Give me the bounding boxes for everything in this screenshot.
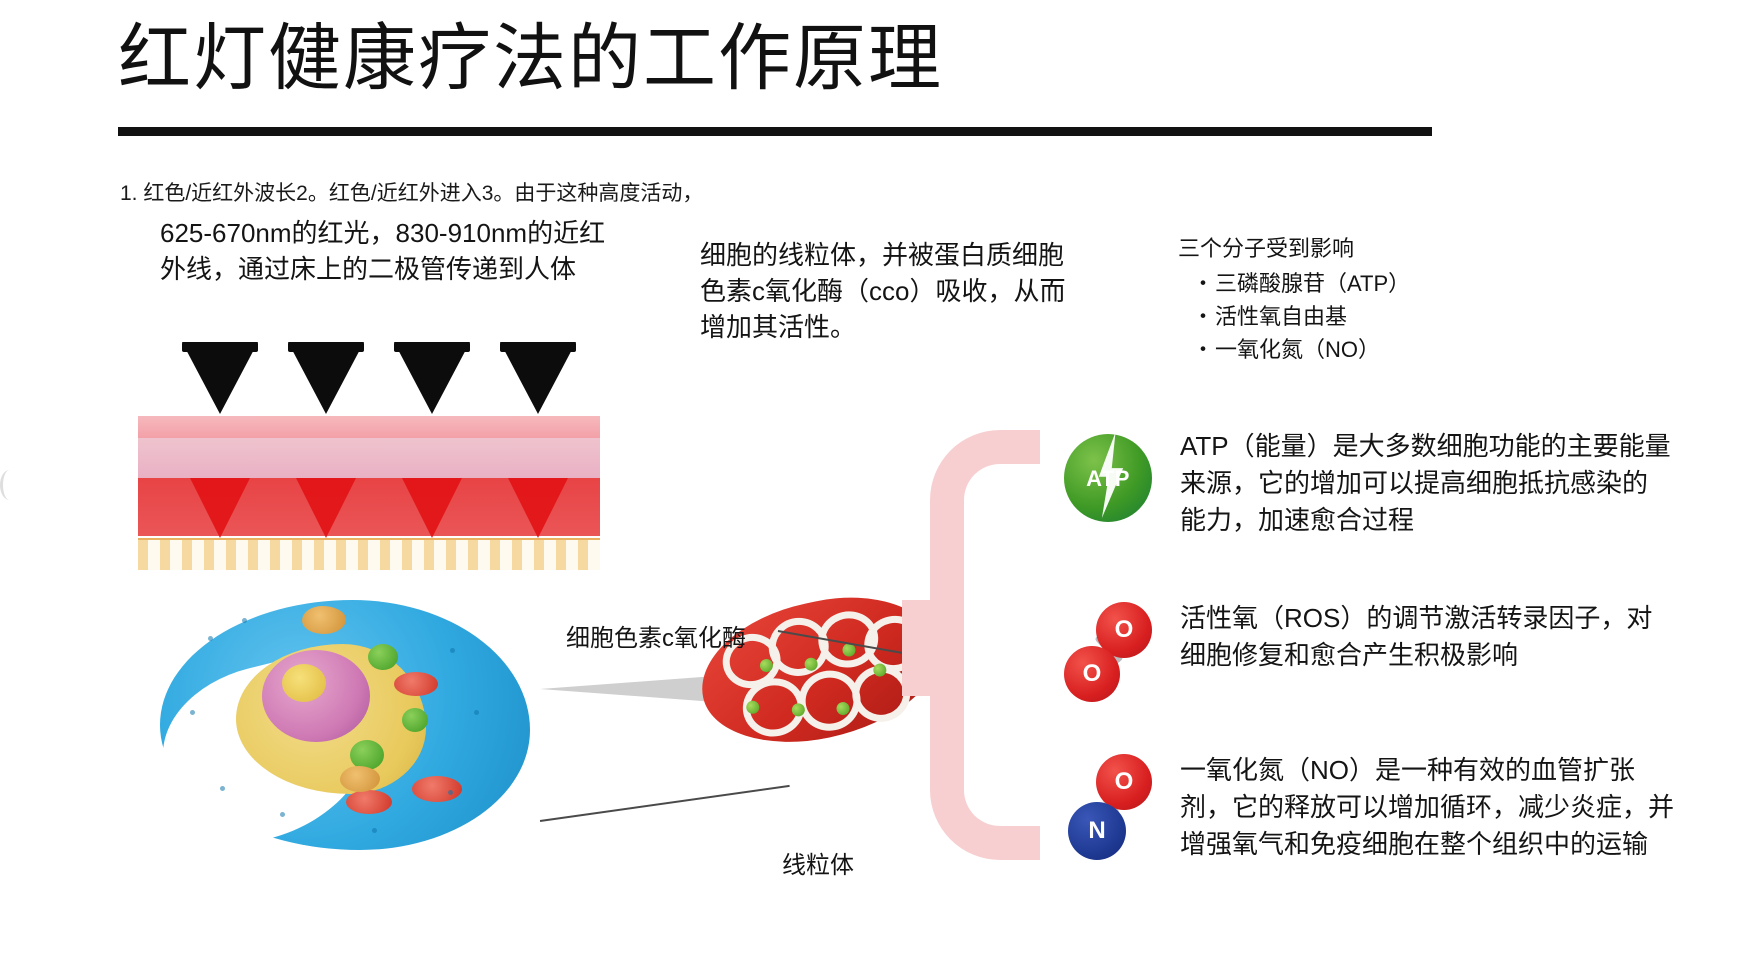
molecule-row-ros: O O 活性氧（ROS）的调节激活转录因子，对细胞修复和愈合产生积极影响 <box>1058 600 1678 720</box>
molecule-row-atp: ATP ATP（能量）是大多数细胞功能的主要能量来源，它的增加可以提高细胞抵抗感… <box>1058 428 1678 539</box>
atp-badge-label: ATP <box>1058 466 1158 492</box>
organelle-vesicle-1 <box>368 644 398 670</box>
page-title: 红灯健康疗法的工作原理 <box>118 18 1618 100</box>
organelle-golgi-2 <box>340 766 380 792</box>
molecule-row-no: O N 一氧化氮（NO）是一种有效的血管扩张剂，它的释放可以增加循环，减少炎症，… <box>1058 752 1678 882</box>
led-lamp-icon-4 <box>500 342 576 414</box>
label-cytochrome-c-oxidase: 细胞色素c氧化酶 <box>566 618 746 653</box>
cell-texture-dot <box>372 828 377 833</box>
molecule-description-no: 一氧化氮（NO）是一种有效的血管扩张剂，它的释放可以增加循环，减少炎症，并增强氧… <box>1180 752 1678 863</box>
molecule-list-item-ros: 活性氧自由基 <box>1192 300 1568 333</box>
cell-texture-dot <box>474 710 479 715</box>
leader-line-mitochondria <box>540 785 790 822</box>
no-molecule-icon: O N <box>1058 752 1158 882</box>
molecule-list-item-no: 一氧化氮（NO） <box>1192 333 1568 366</box>
organelle-mitochondrion-1 <box>394 672 438 696</box>
atp-molecule-icon: ATP <box>1058 428 1158 528</box>
callout-right-molecules: 三个分子受到影响 三磷酸腺苷（ATP） 活性氧自由基 一氧化氮（NO） <box>1178 232 1568 366</box>
organelle-mitochondrion-2 <box>412 776 462 802</box>
callout-middle-mitochondria: 细胞的线粒体，并被蛋白质细胞色素c氧化酶（cco）吸收，从而增加其活性。 <box>700 238 1080 346</box>
left-edge-decoration <box>0 470 19 500</box>
label-mitochondria: 线粒体 <box>782 845 854 880</box>
oxygen-atom-2: O <box>1064 646 1120 702</box>
organelle-golgi-1 <box>302 606 346 634</box>
organelle-mitochondrion-3 <box>346 790 392 814</box>
pink-brace-tail <box>902 600 936 696</box>
cell-texture-dot <box>450 648 455 653</box>
skin-light-penetration-diagram <box>138 342 600 592</box>
subtitle-step-line: 1. 红色/近红外波长2。红色/近红外进入3。由于这种高度活动， <box>120 180 703 207</box>
nitrogen-atom: N <box>1068 802 1126 860</box>
pink-brace-bracket <box>930 430 1040 860</box>
molecule-description-ros: 活性氧（ROS）的调节激活转录因子，对细胞修复和愈合产生积极影响 <box>1180 600 1672 674</box>
cell-illustration <box>150 590 550 880</box>
cell-texture-dot <box>208 636 213 641</box>
title-divider <box>118 127 1432 136</box>
molecule-list-item-atp: 三磷酸腺苷（ATP） <box>1192 267 1568 300</box>
zoom-pointer-wedge <box>540 676 715 702</box>
cell-nucleolus <box>282 664 326 702</box>
led-lamp-icon-1 <box>182 342 258 414</box>
skin-layer-epidermis <box>138 416 600 438</box>
molecule-description-atp: ATP（能量）是大多数细胞功能的主要能量来源，它的增加可以提高细胞抵抗感染的能力… <box>1180 428 1672 539</box>
molecules-list-heading: 三个分子受到影响 <box>1178 232 1568 265</box>
title-block: 红灯健康疗法的工作原理 <box>118 18 1618 100</box>
oxygen-atom: O <box>1096 754 1152 810</box>
callout-left-wavelengths: 625-670nm的红光，830-910nm的近红外线，通过床上的二极管传递到人… <box>160 216 620 288</box>
skin-layers <box>138 416 600 568</box>
skin-layer-basal-cells <box>138 538 600 570</box>
cell-texture-dot <box>280 812 285 817</box>
skin-layer-dermis <box>138 438 600 478</box>
cell-texture-dot <box>242 618 247 623</box>
led-lamp-icon-3 <box>394 342 470 414</box>
cell-texture-dot <box>190 710 195 715</box>
cell-texture-dot <box>220 786 225 791</box>
organelle-vesicle-3 <box>402 708 428 732</box>
molecules-list: 三磷酸腺苷（ATP） 活性氧自由基 一氧化氮（NO） <box>1178 267 1568 366</box>
cell-texture-dot <box>448 790 453 795</box>
ros-molecule-icon: O O <box>1058 600 1158 720</box>
led-lamp-icon-2 <box>288 342 364 414</box>
